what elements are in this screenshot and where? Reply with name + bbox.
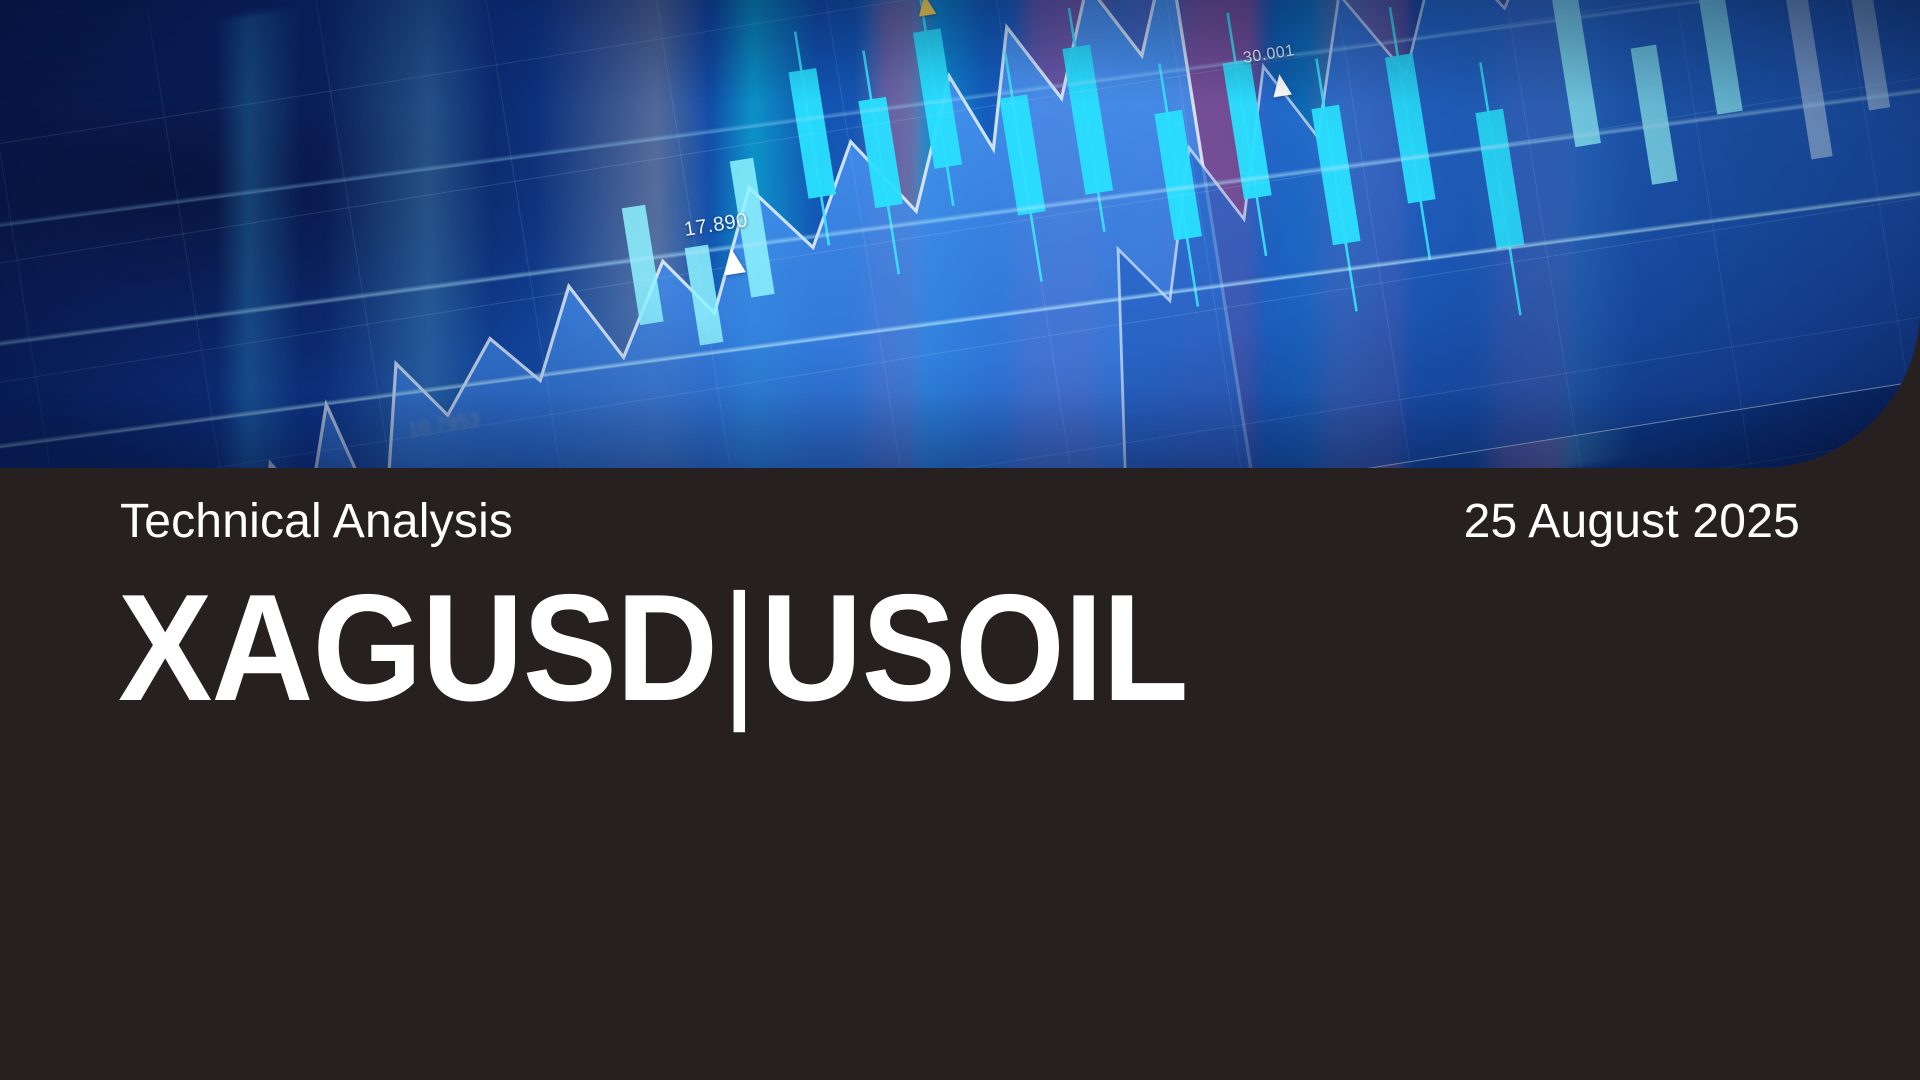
title-symbol-first: XAGUSD (118, 563, 717, 733)
publish-date: 25 August 2025 (1464, 498, 1800, 546)
meta-row: Technical Analysis 25 August 2025 (120, 498, 1800, 546)
banner-sweep-lines (0, 0, 1920, 468)
title-separator: | (717, 563, 760, 733)
triangle-marker-white-lower (720, 246, 746, 275)
kicker-label: Technical Analysis (120, 498, 513, 546)
page-title: XAGUSD|USOIL (118, 572, 1188, 724)
content-panel: Technical Analysis 25 August 2025 XAGUSD… (0, 468, 1920, 1080)
triangle-marker-white-upper (1270, 73, 1292, 98)
title-symbol-second: USOIL (760, 563, 1187, 733)
slide-root: 30.001 17.890 10.7953 Technical Analysis… (0, 0, 1920, 1080)
triangle-marker-yellow (916, 0, 937, 17)
financial-chart-hero-image: 30.001 17.890 10.7953 (0, 0, 1920, 468)
